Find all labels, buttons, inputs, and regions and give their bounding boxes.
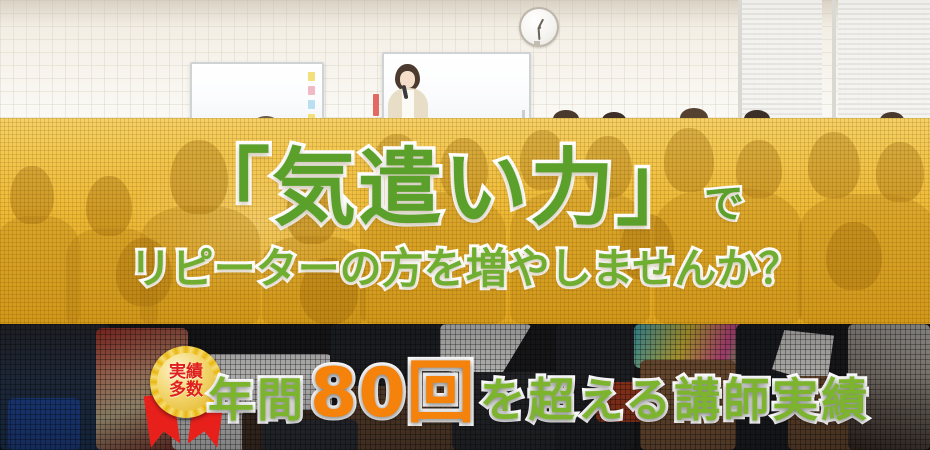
clock-minute-hand xyxy=(538,27,540,40)
window-blind-right xyxy=(838,0,930,128)
window-blind-left xyxy=(742,0,822,128)
sticky-note xyxy=(308,86,315,95)
badge-line-2: 多数 xyxy=(169,382,203,400)
headline: 「気遣い力」で xyxy=(0,146,930,230)
clock-center-pin xyxy=(538,26,541,29)
promo-banner: 「気遣い力」で リピーターの方を増やしませんか？ 実績 多数 年間 80回 を超… xyxy=(0,0,930,450)
marker-strip xyxy=(373,94,379,116)
blind-frame-left xyxy=(738,0,742,128)
sticky-note xyxy=(308,72,315,81)
badge-face: 実績 多数 xyxy=(157,353,215,411)
bottom-tagline-lead: 年間 xyxy=(208,377,306,423)
clock-mount xyxy=(534,41,540,46)
sticky-note xyxy=(308,100,315,109)
headline-suffix: で xyxy=(704,181,744,227)
top-photo-seminar-room xyxy=(0,0,930,128)
headline-main: 「気遣い力」 xyxy=(186,139,702,237)
blind-frame-right xyxy=(832,0,836,128)
bottom-tagline-number: 80回 xyxy=(310,360,476,428)
subheadline: リピーターの方を増やしませんか？ xyxy=(0,248,930,290)
bottom-tagline-trail: を超える講師実績 xyxy=(480,377,871,423)
bottom-tagline: 年間 80回 を超える講師実績 xyxy=(208,360,908,428)
